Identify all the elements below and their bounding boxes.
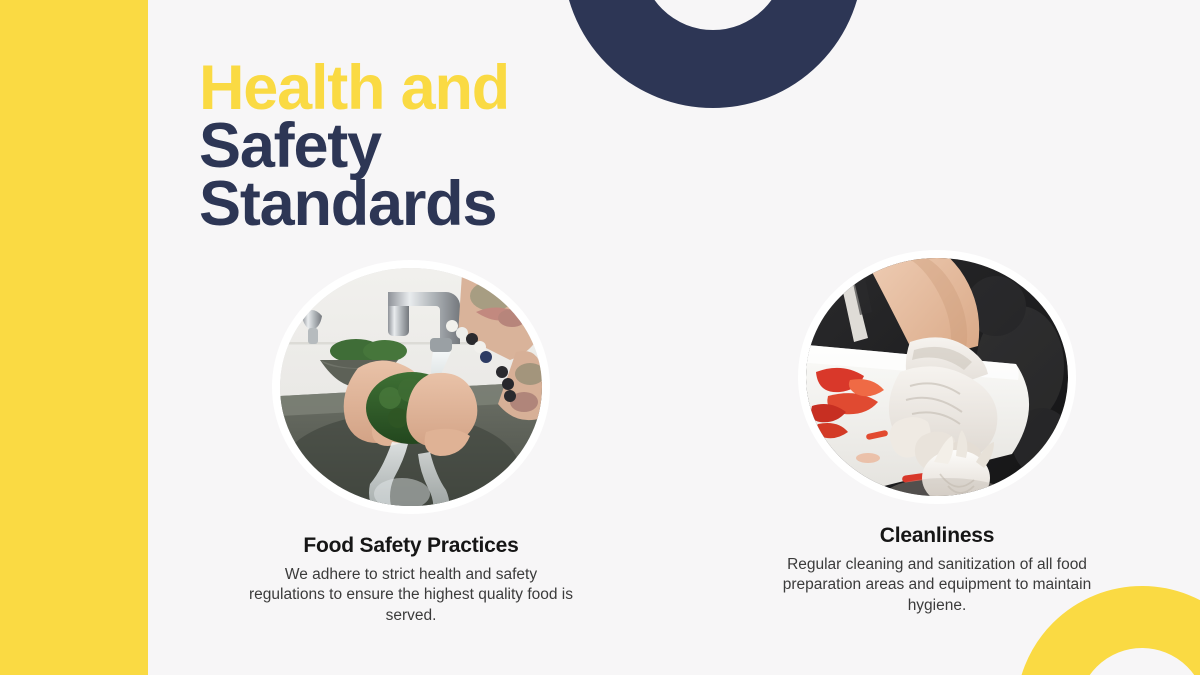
slide-canvas: Health and Safety Standards	[0, 0, 1200, 675]
cards-row: Food Safety Practices We adhere to stric…	[148, 246, 1200, 646]
washing-vegetables-illustration	[280, 268, 542, 506]
card-cleanliness: Cleanliness Regular cleaning and sanitiz…	[674, 246, 1200, 646]
card-title-cleanliness: Cleanliness	[880, 524, 995, 548]
page-title: Health and Safety Standards	[199, 60, 509, 234]
yellow-side-bar-decoration	[0, 0, 148, 675]
photo-frame-food-safety	[272, 260, 550, 514]
photo-frame-cleanliness	[798, 250, 1076, 504]
gloved-hand-garlic-illustration	[806, 258, 1068, 496]
photo-cleanliness	[806, 258, 1068, 496]
title-line-1: Health and	[199, 60, 509, 118]
title-line-3: Standards	[199, 176, 509, 234]
card-body-food-safety: We adhere to strict health and safety re…	[246, 565, 576, 626]
navy-ring-decoration	[563, 0, 863, 108]
photo-food-safety	[280, 268, 542, 506]
card-food-safety-practices: Food Safety Practices We adhere to stric…	[148, 246, 674, 646]
title-line-2: Safety	[199, 118, 509, 176]
card-title-food-safety: Food Safety Practices	[303, 534, 518, 558]
card-body-cleanliness: Regular cleaning and sanitization of all…	[757, 555, 1117, 616]
